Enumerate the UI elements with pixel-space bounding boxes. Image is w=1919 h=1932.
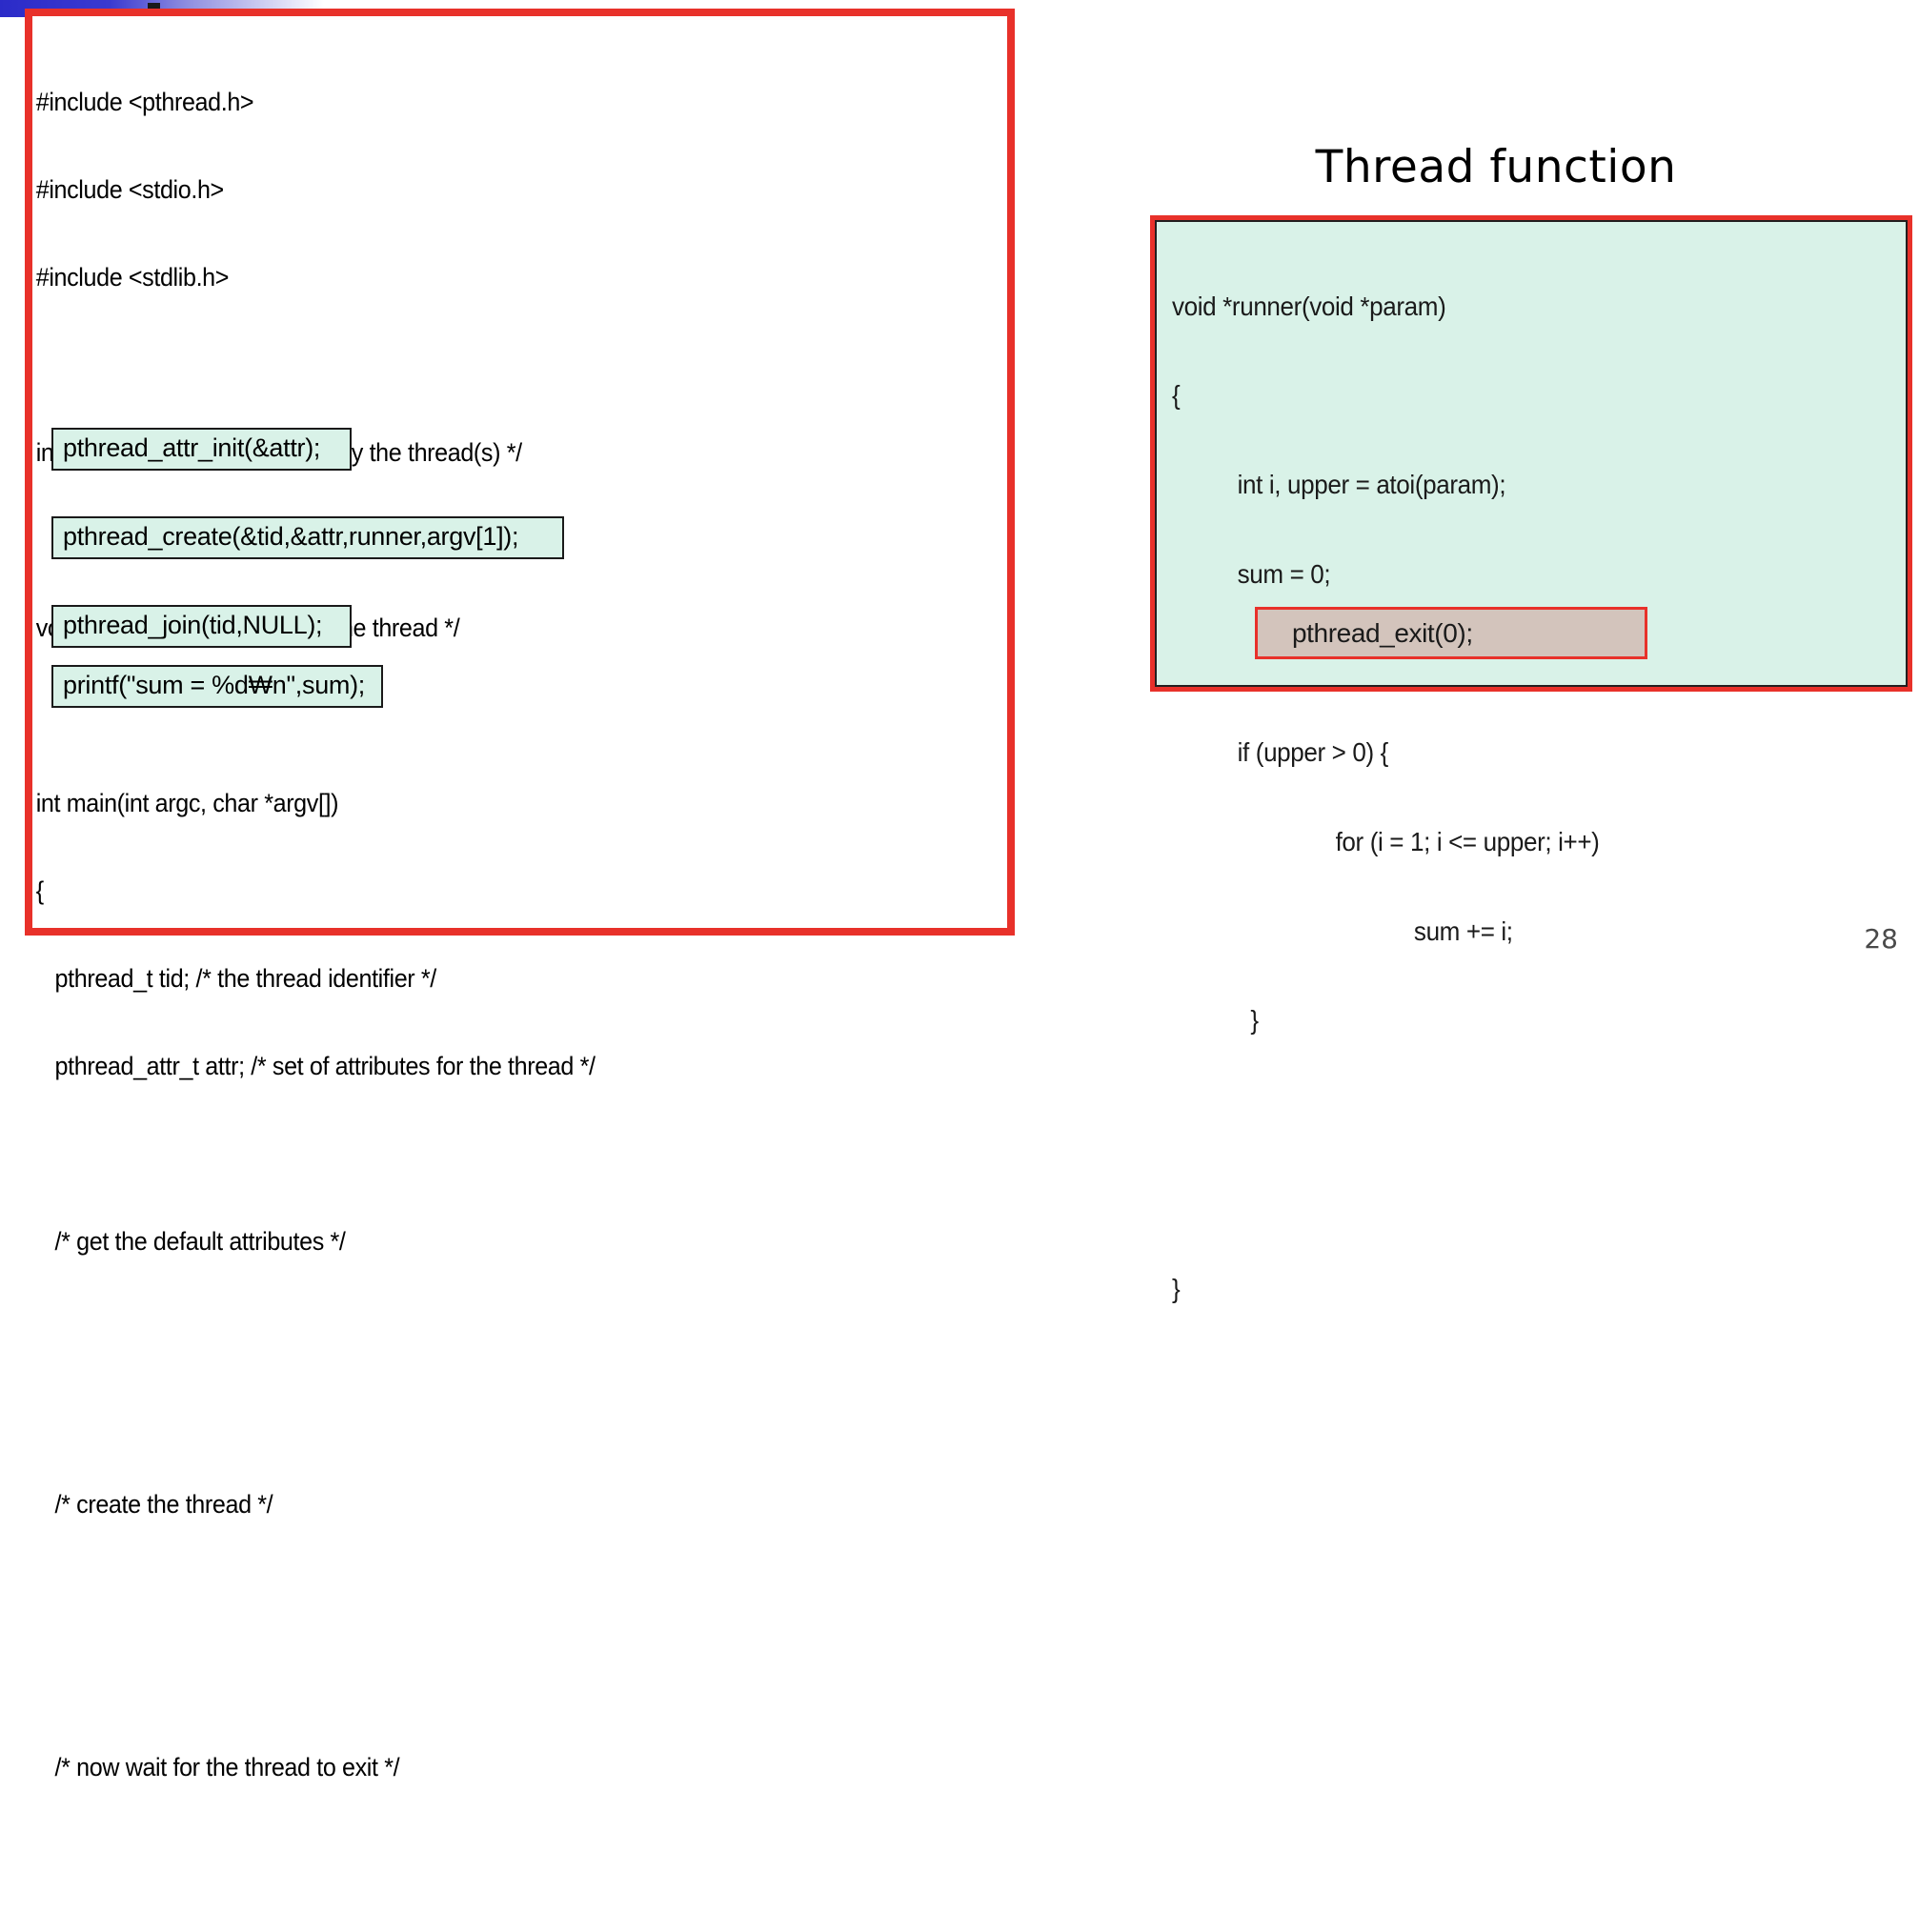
code-line: { [36, 876, 596, 906]
thread-function-code-text: void *runner(void *param) { int i, upper… [1172, 231, 1599, 1362]
code-line-closing-brace: } [1172, 1274, 1599, 1303]
code-line: #include <stdio.h> [36, 175, 596, 205]
code-line-blank [36, 1841, 596, 1870]
code-line: pthread_attr_t attr; /* set of attribute… [36, 1052, 596, 1081]
highlight-box-pthread-exit[interactable]: pthread_exit(0); [1255, 607, 1647, 659]
code-line-blank [36, 1928, 596, 1932]
code-line-blank [1172, 1184, 1599, 1214]
code-line-blank [36, 1315, 596, 1344]
main-program-code-panel: #include <pthread.h> #include <stdio.h> … [25, 9, 1015, 936]
highlight-box-pthread-attr-init[interactable]: pthread_attr_init(&attr); [51, 428, 352, 471]
code-line-blank [36, 1665, 596, 1695]
code-line: pthread_t tid; /* the thread identifier … [36, 964, 596, 994]
code-line-comment-get-attrs: /* get the default attributes */ [36, 1227, 596, 1257]
code-line: if (upper > 0) { [1172, 737, 1599, 767]
code-line: #include <pthread.h> [36, 88, 596, 117]
page-title: Thread function [1115, 141, 1877, 193]
code-line: { [1172, 380, 1599, 410]
code-line-blank [1172, 1095, 1599, 1124]
highlight-box-pthread-join[interactable]: pthread_join(tid,NULL); [51, 605, 352, 648]
code-line-comment-create-thread: /* create the thread */ [36, 1490, 596, 1519]
highlight-box-pthread-create[interactable]: pthread_create(&tid,&attr,runner,argv[1]… [51, 516, 564, 559]
code-line: for (i = 1; i <= upper; i++) [1172, 827, 1599, 856]
code-line: void *runner(void *param) [1172, 292, 1599, 321]
highlight-box-printf[interactable]: printf("sum = %d₩n",sum); [51, 665, 383, 708]
code-line-blank [36, 351, 596, 380]
code-line-blank [36, 1139, 596, 1169]
code-line: sum += i; [1172, 916, 1599, 946]
main-program-code-text: #include <pthread.h> #include <stdio.h> … [32, 16, 596, 1932]
code-line-comment-wait-exit: /* now wait for the thread to exit */ [36, 1753, 596, 1782]
page-number: 28 [1864, 923, 1898, 955]
code-line: int i, upper = atoi(param); [1172, 470, 1599, 499]
code-line: } [1172, 1005, 1599, 1035]
code-line-blank [36, 1578, 596, 1607]
code-line-blank [36, 1402, 596, 1432]
code-line: int main(int argc, char *argv[]) [36, 789, 596, 818]
code-line: sum = 0; [1172, 559, 1599, 589]
code-line: #include <stdlib.h> [36, 263, 596, 292]
